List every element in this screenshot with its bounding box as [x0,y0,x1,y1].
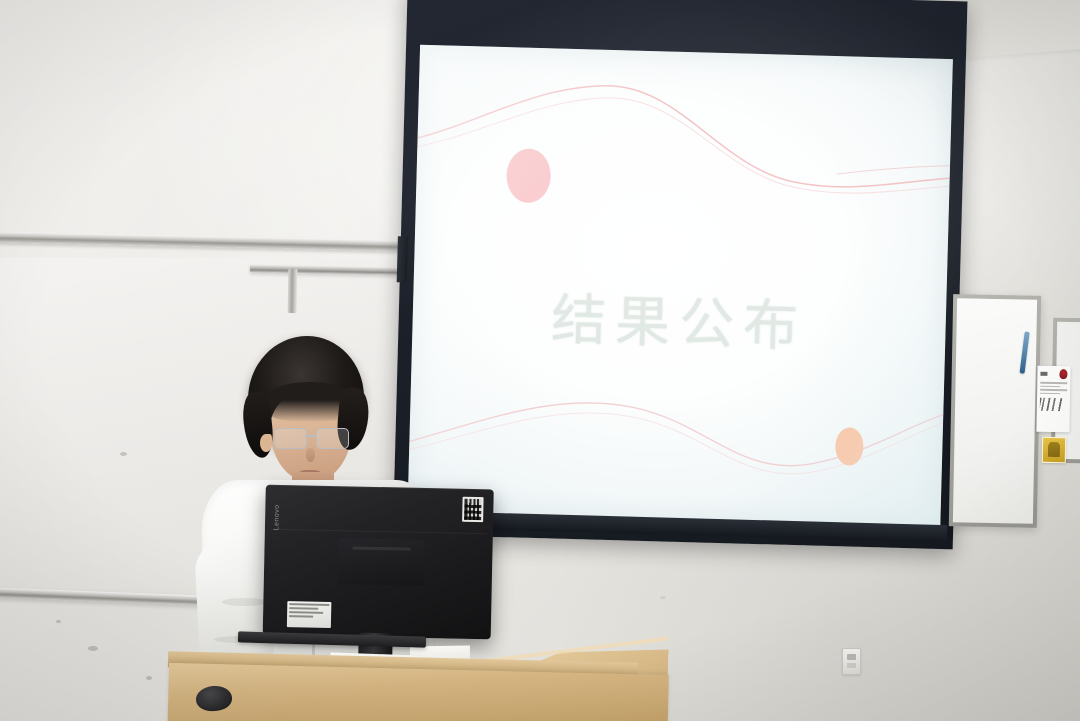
projection-screen-side-tab [397,236,408,282]
classroom-photo: 结果公布 [0,0,1080,721]
monitor-brand-label: Lenovo [273,504,281,530]
bottom-wave-line [407,396,953,470]
glasses-bridge [305,435,316,437]
glasses-lens-left [274,428,307,449]
wall-scuff [56,620,61,623]
notice-text-line [1040,389,1067,391]
top-wave-tail [837,162,953,177]
podium [168,645,668,721]
notice-logo-icon [1040,372,1047,376]
monitor-qr-sticker [462,497,484,522]
whiteboard-rail-bracket [288,269,298,313]
top-wave-line [407,80,953,190]
monitor-brand-logo: Lenovo [273,501,282,533]
top-wave-line-secondary [407,92,953,196]
glasses-lens-right [316,428,349,449]
notice-signature-mark [1040,398,1067,411]
notice-header [1037,366,1070,381]
monitor-asset-label [287,601,332,628]
projected-slide: 结果公布 [407,45,953,529]
presenter-ear [260,434,272,452]
monitor-vesa-mount [338,538,425,586]
wall-scuff [146,676,152,680]
notice-text-line [1040,382,1067,384]
wall-sticker [1042,437,1066,463]
notice-text-line [1040,393,1060,395]
glasses-icon [272,428,352,448]
no-smoking-icon [1059,369,1067,379]
power-outlet [842,648,861,675]
projection-screen: 结果公布 [393,0,978,562]
right-whiteboard [949,294,1041,528]
wall-scuff [88,646,98,651]
wall-scuff [120,452,127,456]
wall-scuff [660,596,666,599]
wall-notice [1036,366,1070,433]
notice-text-line [1040,385,1060,387]
shirt-fold [222,598,266,606]
pink-circle [506,148,551,203]
bottom-wave-line-secondary [407,404,953,478]
orange-circle [835,427,864,466]
slide-title: 结果公布 [412,271,947,365]
presenter-nose [306,448,315,462]
